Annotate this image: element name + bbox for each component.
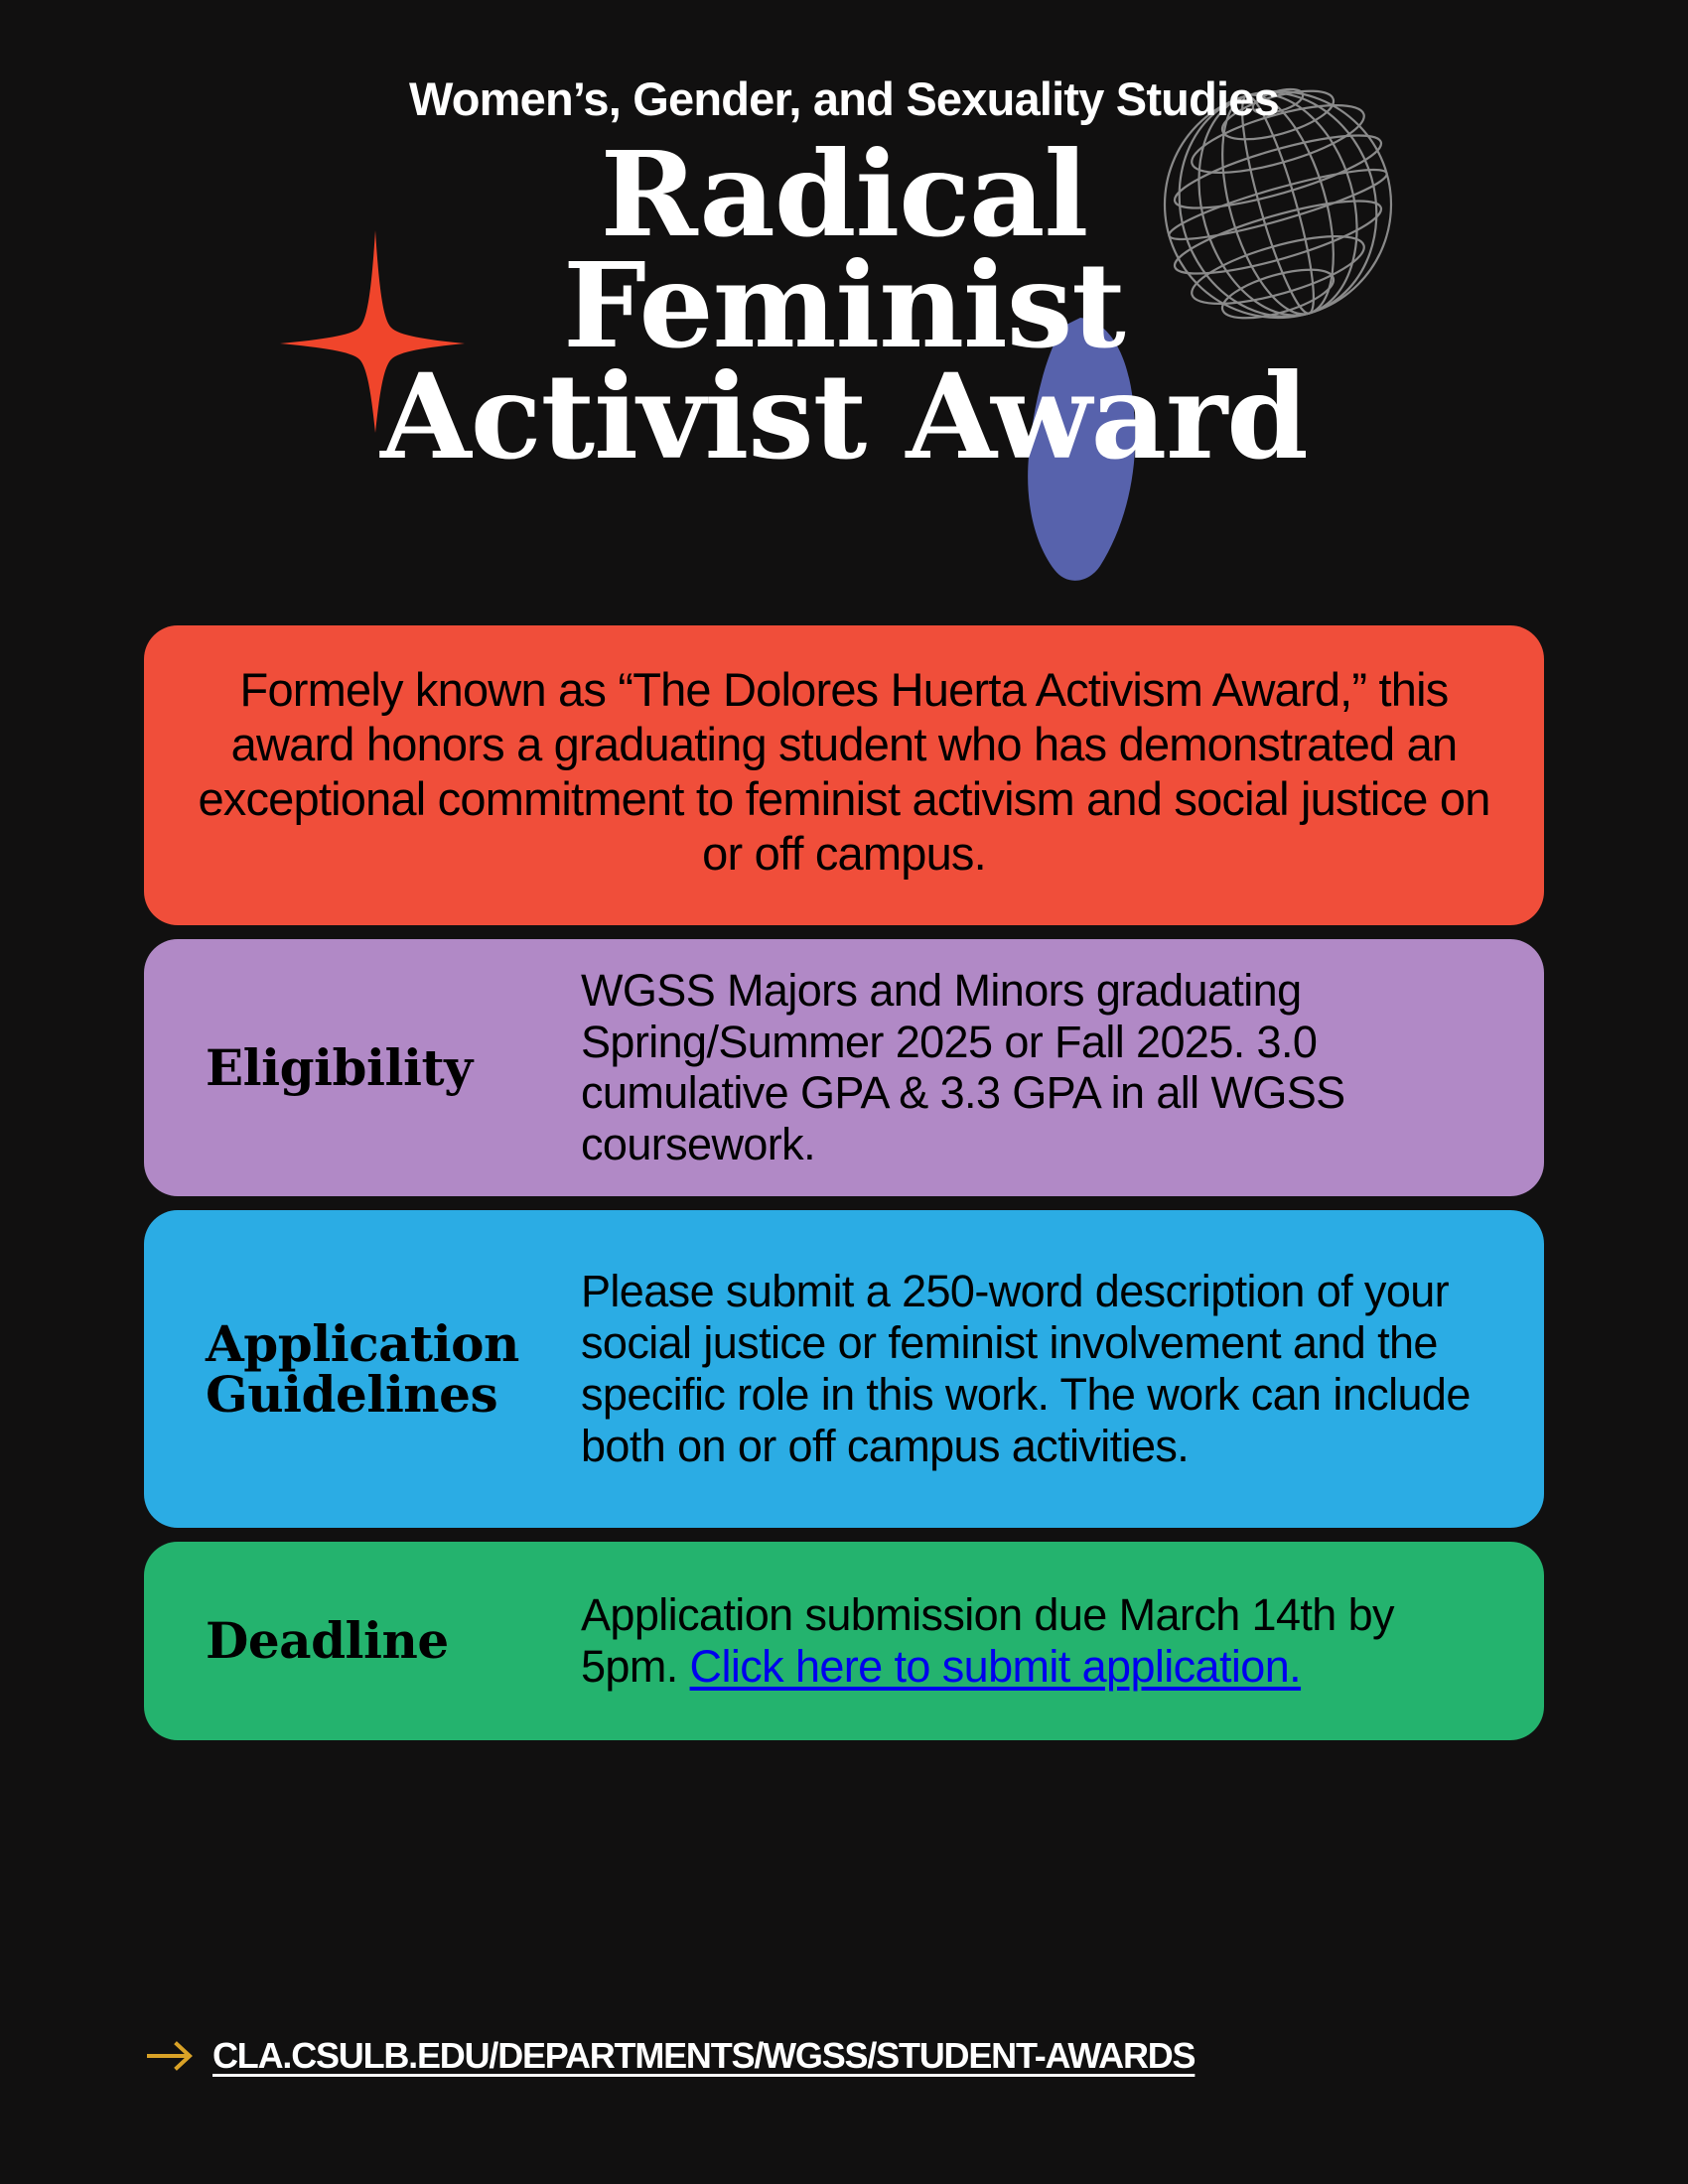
guidelines-text: Please submit a 250-word description of … xyxy=(581,1266,1504,1471)
eligibility-text: WGSS Majors and Minors graduating Spring… xyxy=(581,965,1504,1170)
guidelines-label-line-1: Application xyxy=(206,1318,581,1369)
submit-application-link[interactable]: Click here to submit application. xyxy=(690,1641,1302,1692)
intro-text: Formely known as “The Dolores Huerta Act… xyxy=(196,663,1492,882)
footer-url-link[interactable]: CLA.CSULB.EDU/DEPARTMENTS/WGSS/STUDENT-A… xyxy=(212,2035,1195,2077)
department-title: Women’s, Gender, and Sexuality Studies xyxy=(0,71,1688,126)
title-line-3: Activist Award xyxy=(0,361,1688,473)
poster-header: Women’s, Gender, and Sexuality Studies R… xyxy=(0,0,1688,606)
page-title: Radical Feminist Activist Award xyxy=(0,139,1688,473)
arrow-right-icon xyxy=(147,2041,195,2071)
intro-card: Formely known as “The Dolores Huerta Act… xyxy=(144,625,1544,925)
poster-root: Women’s, Gender, and Sexuality Studies R… xyxy=(0,0,1688,2184)
title-line-2: Feminist xyxy=(0,250,1688,361)
eligibility-label: Eligibility xyxy=(184,1042,581,1093)
guidelines-label-line-2: Guidelines xyxy=(206,1369,581,1420)
deadline-label: Deadline xyxy=(184,1615,581,1666)
guidelines-label: Application Guidelines xyxy=(184,1318,581,1420)
eligibility-card: Eligibility WGSS Majors and Minors gradu… xyxy=(144,939,1544,1196)
deadline-card: Deadline Application submission due Marc… xyxy=(144,1542,1544,1740)
card-stack: Formely known as “The Dolores Huerta Act… xyxy=(144,625,1544,1754)
guidelines-card: Application Guidelines Please submit a 2… xyxy=(144,1210,1544,1528)
title-line-1: Radical xyxy=(0,139,1688,250)
footer: CLA.CSULB.EDU/DEPARTMENTS/WGSS/STUDENT-A… xyxy=(147,2035,1195,2077)
deadline-text: Application submission due March 14th by… xyxy=(581,1589,1504,1693)
